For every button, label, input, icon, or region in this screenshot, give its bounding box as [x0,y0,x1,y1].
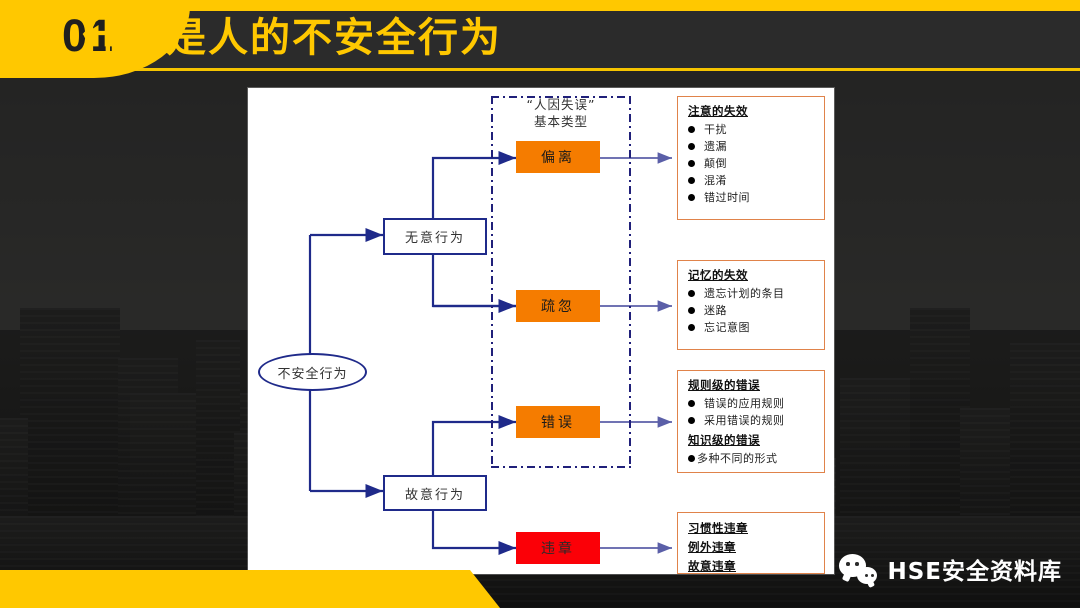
bullet-icon [688,400,695,407]
list-item-label: 错过时间 [704,189,750,206]
bullet-icon [688,143,695,150]
node-error-type-deviation[interactable]: 偏离 [516,141,600,173]
list-item: 采用错误的规则 [688,412,816,429]
bullet-icon [688,126,695,133]
list-item-label: 混淆 [704,172,727,189]
violation-line: 习惯性违章 [688,519,816,538]
list-item: 遗漏 [688,138,816,155]
wechat-eye [855,562,859,566]
watermark: HSE安全资料库 [839,552,1062,586]
bullet-icon [688,160,695,167]
list-item-label: 忘记意图 [704,319,750,336]
bullet-icon [688,455,695,462]
list-item-label: 遗忘计划的条目 [704,285,785,302]
bottom-accent-bar [0,570,500,608]
page-title: 什么是人的不安全行为 [82,5,502,63]
list-item-label: 采用错误的规则 [704,412,785,429]
group-title-line2: 基本类型 [491,113,631,130]
list-item-label: 多种不同的形式 [697,450,778,467]
violation-line: 故意违章 [688,557,816,576]
list-item: 混淆 [688,172,816,189]
card-list: 错误的应用规则 采用错误的规则 [688,395,816,429]
card-heading-secondary: 知识级的错误 [688,432,816,448]
card-heading: 记忆的失效 [688,267,816,283]
bullet-icon [688,307,695,314]
list-item: 迷路 [688,302,816,319]
watermark-text: HSE安全资料库 [887,552,1062,586]
list-item: 错过时间 [688,189,816,206]
list-item-label: 颠倒 [704,155,727,172]
list-item-label: 干扰 [704,121,727,138]
list-item: 忘记意图 [688,319,816,336]
node-error-type-violation[interactable]: 违章 [516,532,600,564]
bullet-icon [688,417,695,424]
node-error-type-lapse[interactable]: 疏忽 [516,290,600,322]
slide: “人因失误” 基本类型 不安全行为 无意行为 故意行为 偏离 疏忽 错误 违章 … [0,0,1080,608]
card-rule-knowledge-mistakes: 规则级的错误 错误的应用规则 采用错误的规则 知识级的错误 多种不同的形式 [677,370,825,473]
bullet-icon [688,290,695,297]
list-item: 遗忘计划的条目 [688,285,816,302]
list-item-label: 迷路 [704,302,727,319]
violation-line: 例外违章 [688,538,816,557]
wechat-icon [839,554,877,584]
node-root-unsafe-behavior[interactable]: 不安全行为 [258,353,367,391]
list-item-label: 遗漏 [704,138,727,155]
list-item-label: 错误的应用规则 [704,395,785,412]
bullet-icon [688,194,695,201]
node-error-type-mistake[interactable]: 错误 [516,406,600,438]
card-memory-failure: 记忆的失效 遗忘计划的条目 迷路 忘记意图 [677,260,825,350]
list-item: 多种不同的形式 [688,450,816,467]
card-list: 遗忘计划的条目 迷路 忘记意图 [688,285,816,336]
node-intentional-behavior[interactable]: 故意行为 [383,475,487,511]
bullet-icon [688,177,695,184]
list-item: 颠倒 [688,155,816,172]
node-unintentional-behavior[interactable]: 无意行为 [383,218,487,255]
group-title-line1: “人因失误” [491,96,631,113]
bullet-icon [688,324,695,331]
card-heading: 注意的失效 [688,103,816,119]
wechat-eye [846,562,850,566]
list-item: 干扰 [688,121,816,138]
card-attention-failure: 注意的失效 干扰 遗漏 颠倒 混淆 错过时间 [677,96,825,220]
flow-diagram: “人因失误” 基本类型 不安全行为 无意行为 故意行为 偏离 疏忽 错误 违章 … [248,88,834,574]
header-underline [0,68,1080,71]
content-panel: “人因失误” 基本类型 不安全行为 无意行为 故意行为 偏离 疏忽 错误 违章 … [248,88,834,574]
card-heading: 规则级的错误 [688,377,816,393]
list-item: 错误的应用规则 [688,395,816,412]
group-title: “人因失误” 基本类型 [491,96,631,130]
card-list: 干扰 遗漏 颠倒 混淆 错过时间 [688,121,816,206]
card-violation-types: 习惯性违章 例外违章 故意违章 [677,512,825,574]
card-list-secondary: 多种不同的形式 [688,450,816,467]
